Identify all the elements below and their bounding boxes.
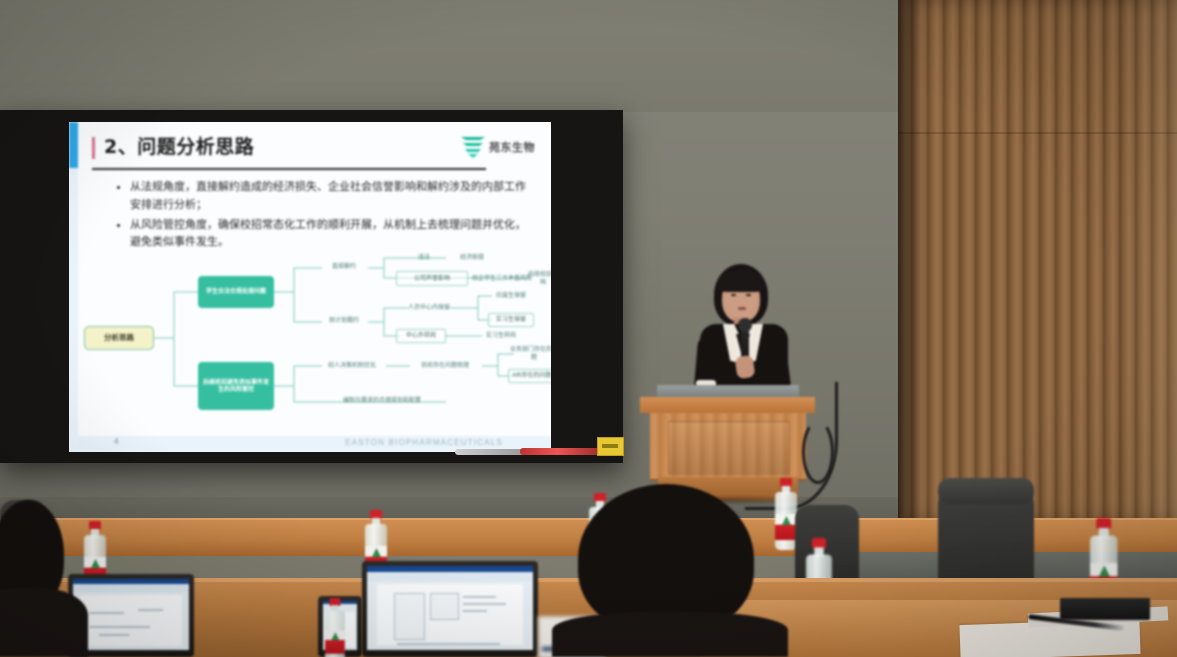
laptop-screen[interactable] bbox=[367, 566, 533, 650]
mindmap-branch-1: 学生合法合规处理问题 bbox=[198, 276, 274, 308]
mindmap-leaf: 后续校招影响 bbox=[526, 271, 551, 286]
mindmap-branch-2: 后续校招避免类似事件发生的风险管控 bbox=[198, 362, 274, 410]
screen-text-line bbox=[463, 603, 506, 605]
screen-text-line bbox=[89, 612, 124, 614]
slide-accent-bar bbox=[69, 122, 78, 168]
mindmap-leaf: HR存在的问题 bbox=[508, 369, 551, 383]
mindmap-leaf: 应届生保留 bbox=[488, 290, 534, 302]
slide-title: 2、问题分析思路 bbox=[104, 132, 254, 159]
chair-headrest bbox=[938, 478, 1034, 504]
mindmap-leaf: 人员中心内保留 bbox=[404, 301, 454, 314]
presenter-eye-left bbox=[731, 294, 736, 296]
audience-shoulders bbox=[552, 612, 788, 657]
mindmap-leaf: 实习生保留 bbox=[488, 313, 534, 327]
display-yellow-sticker bbox=[597, 437, 624, 456]
bullet-item: 从法规角度，直接解约造成的经济损失、企业社会信誉影响和解约涉及的内部工作安排进行… bbox=[130, 178, 533, 214]
screen-text-line bbox=[89, 626, 149, 628]
screen-panel bbox=[430, 593, 459, 620]
company-name: 苑东生物 bbox=[489, 139, 535, 155]
mindmap-sub-1-1: 直接解约 bbox=[318, 260, 370, 274]
mindmap-sub-1-2: 按计划履约 bbox=[318, 314, 370, 328]
mindmap-leaf: 经济赔偿 bbox=[444, 252, 500, 264]
mindmap-leaf: 中心外转岗 bbox=[396, 329, 446, 343]
mindmap-leaf: 校企学生三方矛盾风险 bbox=[472, 271, 532, 286]
screen-document bbox=[80, 595, 182, 646]
screen-text-line bbox=[463, 596, 496, 598]
sticker-marking bbox=[602, 444, 618, 448]
presenter-mouth bbox=[738, 307, 746, 310]
slide-title-row: 2、问题分析思路 苑东生物 bbox=[92, 133, 541, 169]
keyboard-device[interactable] bbox=[1060, 598, 1150, 620]
screen-text-line bbox=[138, 609, 164, 611]
slide-bullet-list: 从法规角度，直接解约造成的经济损失、企业社会信誉影响和解约涉及的内部工作安排进行… bbox=[116, 178, 533, 253]
water-bottle[interactable] bbox=[775, 478, 797, 550]
display-panel: 2、问题分析思路 苑东生物 从法规角度，直接解约造成的经济损失、企业社会信誉影响… bbox=[69, 122, 551, 452]
mindmap-leaf: 违法 bbox=[404, 252, 444, 264]
mindmap-sub-2-2: 编制与需求的合理规划和配置 bbox=[318, 394, 446, 408]
mindmap-leaf: 目前存在问题梳理 bbox=[408, 359, 482, 373]
wood-wall-shadow bbox=[898, 0, 926, 520]
display-cable-gray bbox=[455, 449, 525, 455]
slide-body: 2、问题分析思路 苑东生物 从法规角度，直接解约造成的经济损失、企业社会信誉影响… bbox=[78, 122, 551, 452]
laptop-lid bbox=[362, 561, 538, 657]
audience-shoulders bbox=[0, 588, 88, 657]
mindmap-leaf: 业务部门存在的问题 bbox=[508, 347, 551, 360]
leaf-logo-icon bbox=[461, 135, 485, 159]
wall-mounted-display[interactable]: 2、问题分析思路 苑东生物 从法规角度，直接解约造成的经济损失、企业社会信誉影响… bbox=[0, 110, 623, 463]
laptop[interactable] bbox=[362, 561, 538, 657]
title-tick-mark bbox=[92, 137, 95, 159]
wall-left-upper bbox=[0, 0, 905, 112]
mindmap-sub-2-1: 招人决策机制优化 bbox=[318, 359, 386, 373]
laptop-screen[interactable] bbox=[73, 579, 189, 650]
microphone-head-icon bbox=[738, 318, 752, 332]
conference-room-photo: 2、问题分析思路 苑东生物 从法规角度，直接解约造成的经济损失、企业社会信誉影响… bbox=[0, 0, 1177, 657]
screen-text-line bbox=[397, 643, 500, 645]
bullet-item: 从风险管控角度，确保校招常态化工作的顺利开展，从机制上去梳理问题并优化，避免类似… bbox=[130, 216, 533, 252]
mindmap-diagram: 分析思路 学生合法合规处理问题 后续校招避免类似事件发生的风险管控 直接解约 按… bbox=[78, 250, 551, 425]
slide-page-number: 4 bbox=[114, 437, 118, 446]
presenter-hand bbox=[735, 355, 756, 379]
company-logo: 苑东生物 bbox=[461, 135, 535, 159]
mindmap-leaf: 公司声誉影响 bbox=[396, 271, 468, 286]
presenter-hair-fringe bbox=[718, 270, 764, 292]
slide-accent-bar-lower bbox=[69, 168, 78, 452]
screen-ribbon bbox=[73, 584, 189, 592]
screen-panel bbox=[394, 593, 426, 640]
microphone-cable-loop bbox=[802, 420, 834, 484]
screen-ribbon bbox=[367, 572, 533, 581]
presenter-eye-right bbox=[746, 294, 751, 296]
slide-footer-brand: EASTON BIOPHARMACEUTICALS bbox=[345, 438, 503, 447]
mindmap-root: 分析思路 bbox=[84, 326, 154, 350]
water-bottle[interactable] bbox=[325, 598, 345, 657]
screen-text-line bbox=[463, 610, 486, 612]
title-underline bbox=[92, 168, 486, 170]
mindmap-leaf: 实习生转岗 bbox=[478, 329, 524, 343]
wall-light-falloff bbox=[1120, 0, 1177, 520]
screen-text-line bbox=[99, 634, 129, 636]
presentation-slide: 2、问题分析思路 苑东生物 从法规角度，直接解约造成的经济损失、企业社会信誉影响… bbox=[69, 122, 551, 452]
